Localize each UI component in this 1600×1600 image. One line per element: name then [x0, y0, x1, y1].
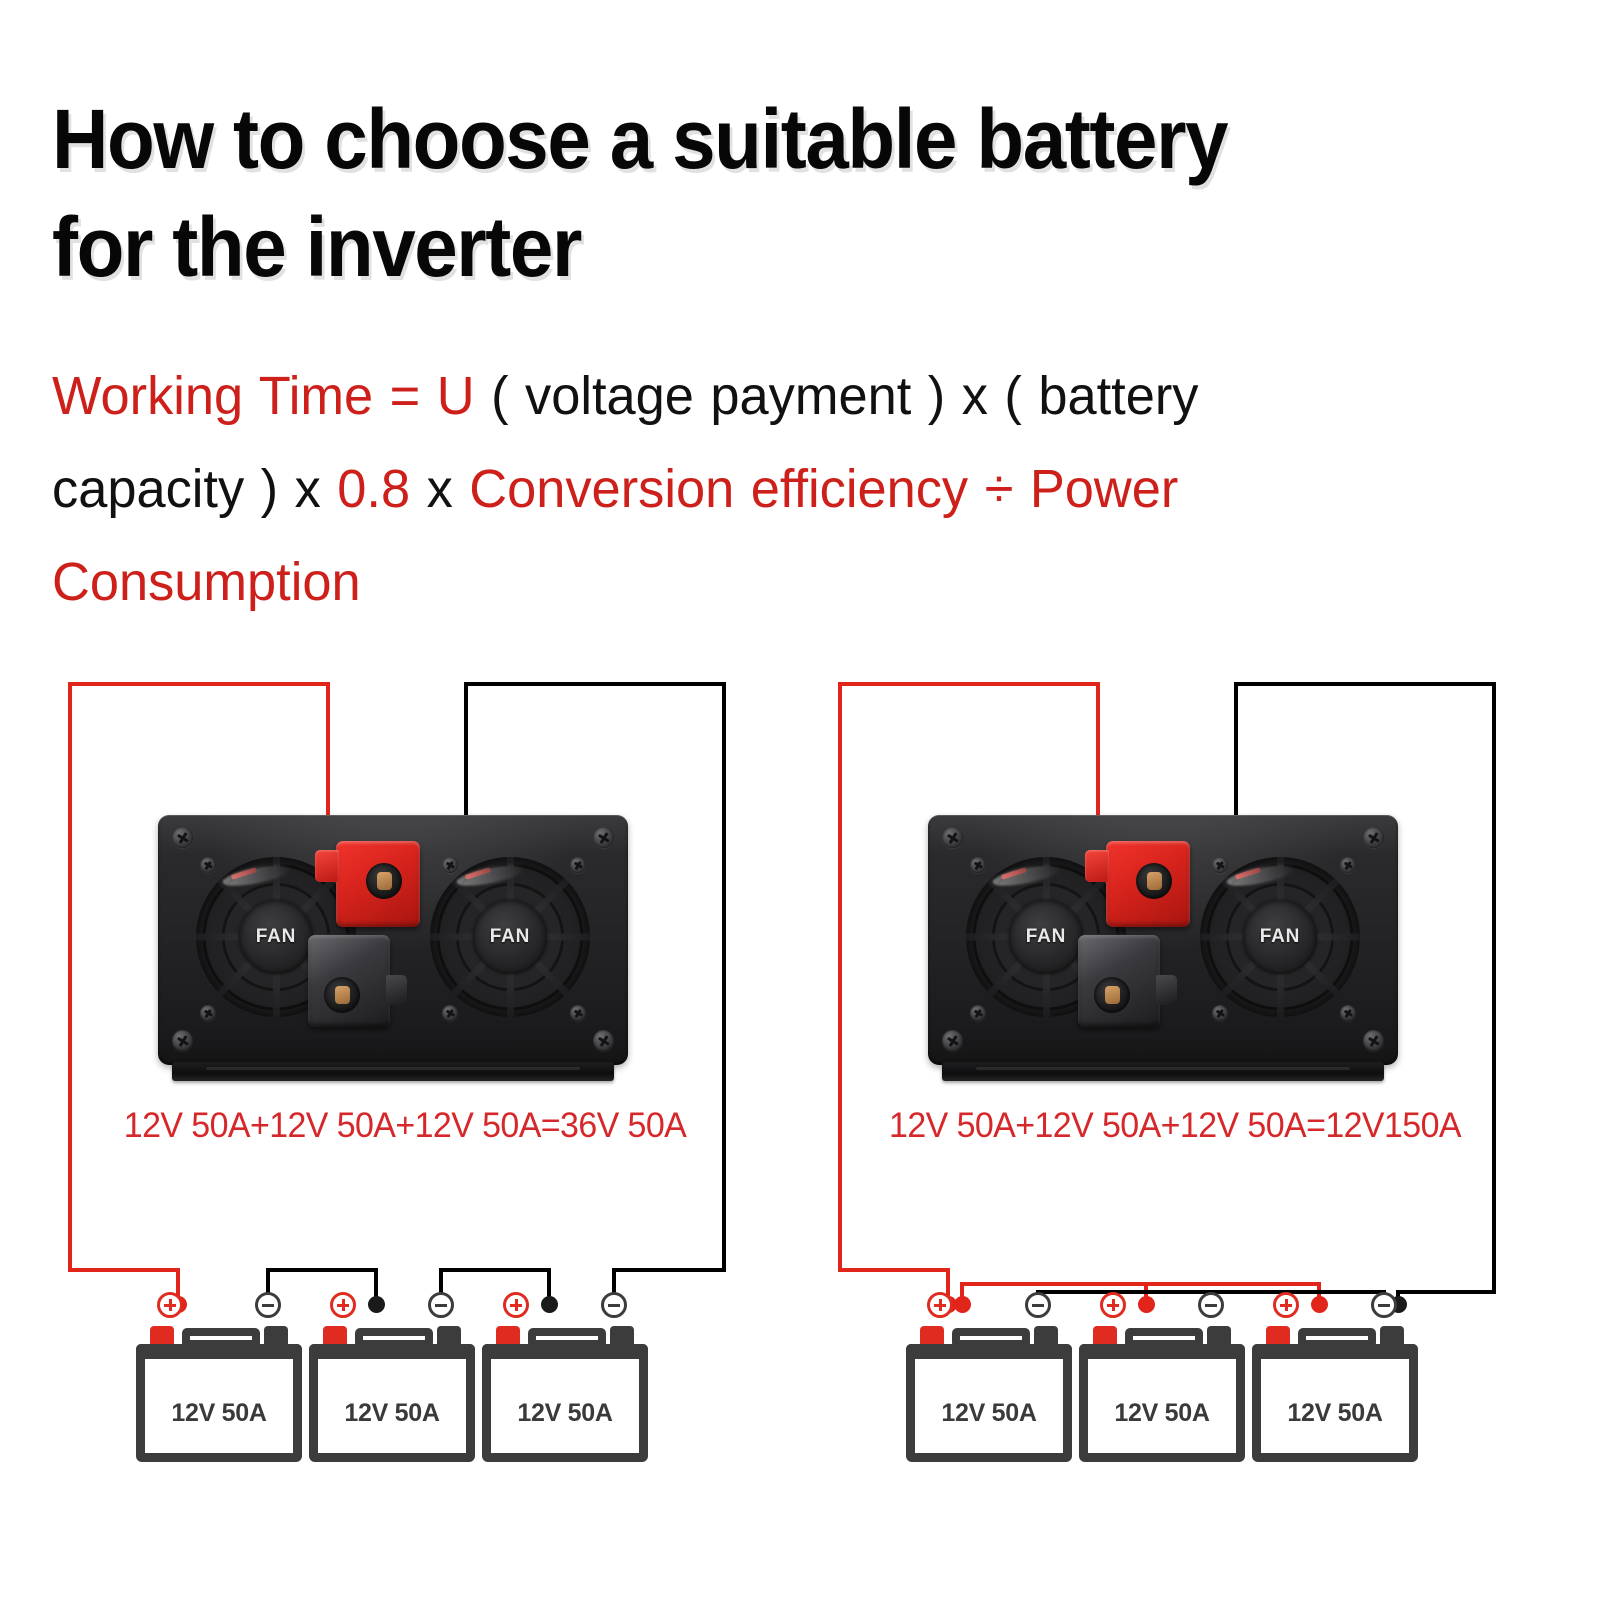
positive-terminal-tab [1085, 850, 1109, 882]
parallel-positive-bus [960, 1282, 1321, 1286]
battery-1: 12V 50A [136, 1322, 302, 1462]
battery-2-label: 12V 50A [1079, 1399, 1245, 1428]
cooling-fan-right: FAN [1200, 857, 1360, 1017]
battery-1-positive-symbol [927, 1292, 953, 1318]
inverter-screw-top-right [593, 827, 614, 848]
battery-2-positive-symbol [1100, 1292, 1126, 1318]
series-positive-wire-top [68, 682, 330, 686]
inverter-screw-fan-right-top [1340, 857, 1356, 873]
battery-2-negative-symbol [1198, 1292, 1224, 1318]
diagram-parallel: FAN FAN [810, 660, 1540, 1480]
battery-3: 12V 50A [1252, 1322, 1418, 1462]
battery-1-negative-symbol [255, 1292, 281, 1318]
cooling-fan-right: FAN [430, 857, 590, 1017]
inverter-screw-negative-bottom [442, 1005, 458, 1021]
inverter-negative-terminal-cover [1078, 935, 1160, 1027]
battery-3-negative-symbol [601, 1292, 627, 1318]
formula-term-equals-u: = U [373, 366, 474, 426]
battery-3-positive-symbol [1273, 1292, 1299, 1318]
parallel-negative-wire-bottom [1396, 1290, 1496, 1294]
battery-3-positive-symbol [503, 1292, 529, 1318]
positive-terminal-bolt [1136, 863, 1172, 899]
inverter-negative-terminal-cover [308, 935, 390, 1027]
positive-terminal-tab [315, 850, 339, 882]
inverter-screw-fan-right-top [570, 857, 586, 873]
formula-term-times: x [410, 459, 469, 519]
fan-label-left: FAN [256, 926, 296, 948]
negative-terminal-bolt [1094, 977, 1130, 1013]
inverter-screw-negative-bottom [1212, 1005, 1228, 1021]
inverter-screw-fan-left-bottom [200, 1005, 216, 1021]
formula-term-factor: 0.8 [337, 459, 410, 519]
fan-hub-right: FAN [473, 900, 547, 974]
inverter-mounting-base [172, 1062, 614, 1081]
inverter-screw-bottom-right [593, 1030, 614, 1051]
battery-2-negative-symbol [428, 1292, 454, 1318]
parallel-negative-wire-top [1234, 682, 1496, 686]
inverter-screw-bottom-right [1363, 1030, 1384, 1051]
inverter-screw-bottom-left [942, 1030, 963, 1051]
battery-3-negative-symbol [1371, 1292, 1397, 1318]
series-jumper-1-dot-right [368, 1296, 385, 1313]
series-positive-wire-bottom [68, 1268, 180, 1272]
battery-3-label: 12V 50A [1252, 1399, 1418, 1428]
positive-terminal-bolt [366, 863, 402, 899]
fan-label-right: FAN [1260, 926, 1300, 948]
battery-2: 12V 50A [309, 1322, 475, 1462]
diagram-series: FAN FAN [40, 660, 770, 1480]
inverter-screw-fan-left-top [200, 857, 216, 873]
battery-3-label: 12V 50A [482, 1399, 648, 1428]
fan-label-right: FAN [490, 926, 530, 948]
inverter-unit-series: FAN FAN [158, 815, 628, 1065]
series-negative-wire-bottom [612, 1268, 726, 1272]
formula-term-working-time: Working Time [52, 366, 373, 426]
inverter-screw-bottom-left [172, 1030, 193, 1051]
battery-3: 12V 50A [482, 1322, 648, 1462]
inverter-unit-parallel: FAN FAN [928, 815, 1398, 1065]
page-title-line-2: for the inverter [52, 194, 1447, 302]
inverter-mounting-base [942, 1062, 1384, 1081]
inverter-screw-negative-top [1212, 857, 1228, 873]
series-positive-wire-vertical-left [68, 682, 72, 1272]
parallel-negative-wire-vertical-right [1492, 682, 1496, 1294]
battery-1-label: 12V 50A [136, 1399, 302, 1428]
inverter-screw-fan-left-bottom [970, 1005, 986, 1021]
fan-hub-left: FAN [239, 900, 313, 974]
inverter-screw-fan-right-bottom [570, 1005, 586, 1021]
negative-terminal-bolt [324, 977, 360, 1013]
series-jumper-2-dot-right [541, 1296, 558, 1313]
battery-1: 12V 50A [906, 1322, 1072, 1462]
parallel-caption: 12V 50A+12V 50A+12V 50A=12V150A [821, 1106, 1529, 1146]
inverter-positive-terminal-cover [1106, 841, 1190, 927]
series-jumper-1-top [266, 1268, 378, 1272]
battery-1-positive-symbol [157, 1292, 183, 1318]
page-title-line-1: How to choose a suitable battery [52, 86, 1447, 194]
inverter-screw-negative-top [442, 857, 458, 873]
page-title: How to choose a suitable battery for the… [52, 86, 1447, 301]
negative-terminal-tab [1156, 975, 1177, 1005]
battery-2-positive-symbol [330, 1292, 356, 1318]
diagram-page: How to choose a suitable battery for the… [0, 0, 1600, 1600]
parallel-positive-dot-1 [954, 1296, 971, 1313]
working-time-formula: Working Time = U ( voltage payment ) x (… [52, 350, 1381, 629]
fan-label-left: FAN [1026, 926, 1066, 948]
inverter-positive-terminal-cover [336, 841, 420, 927]
parallel-positive-dot-3 [1311, 1296, 1328, 1313]
parallel-positive-dot-2 [1138, 1296, 1155, 1313]
series-caption: 12V 50A+12V 50A+12V 50A=36V 50A [51, 1106, 759, 1146]
series-jumper-2-top [439, 1268, 551, 1272]
parallel-positive-wire-vertical-left [838, 682, 842, 1272]
inverter-screw-fan-left-top [970, 857, 986, 873]
negative-terminal-tab [386, 975, 407, 1005]
battery-1-negative-symbol [1025, 1292, 1051, 1318]
parallel-positive-wire-top [838, 682, 1100, 686]
series-negative-wire-top [464, 682, 726, 686]
battery-1-label: 12V 50A [906, 1399, 1072, 1428]
inverter-screw-top-left [942, 827, 963, 848]
series-negative-wire-vertical-right [722, 682, 726, 1272]
inverter-screw-top-left [172, 827, 193, 848]
parallel-positive-wire-bottom [838, 1268, 950, 1272]
fan-hub-right: FAN [1243, 900, 1317, 974]
inverter-screw-top-right [1363, 827, 1384, 848]
battery-2: 12V 50A [1079, 1322, 1245, 1462]
inverter-screw-fan-right-bottom [1340, 1005, 1356, 1021]
battery-2-label: 12V 50A [309, 1399, 475, 1428]
fan-hub-left: FAN [1009, 900, 1083, 974]
